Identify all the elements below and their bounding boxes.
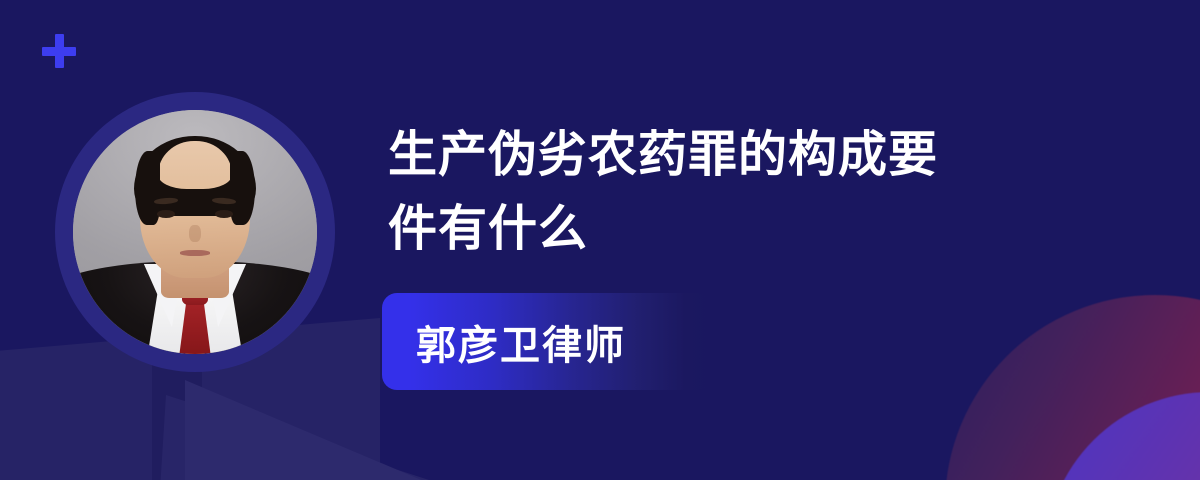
page-title: 生产伪劣农药罪的构成要 件有什么 — [388, 118, 1048, 266]
avatar-eye-right — [215, 210, 233, 218]
avatar-mouth — [180, 250, 209, 255]
avatar-nose — [189, 225, 201, 242]
avatar-hair-left — [135, 151, 159, 224]
headline-container: 生产伪劣农药罪的构成要 件有什么 — [388, 118, 1088, 266]
avatar-ring — [55, 92, 335, 372]
avatar-photo-backdrop — [73, 110, 317, 354]
avatar — [73, 110, 317, 354]
avatar-hair-right — [230, 151, 254, 224]
plus-icon — [42, 34, 76, 68]
avatar-eye-left — [157, 210, 175, 218]
plus-icon-vertical-bar — [55, 34, 64, 68]
lawyer-name-label: 郭彦卫律师 — [416, 313, 626, 371]
banner-root: 生产伪劣农药罪的构成要 件有什么 郭彦卫律师 — [0, 0, 1200, 480]
lawyer-name-badge[interactable]: 郭彦卫律师 — [382, 293, 712, 390]
